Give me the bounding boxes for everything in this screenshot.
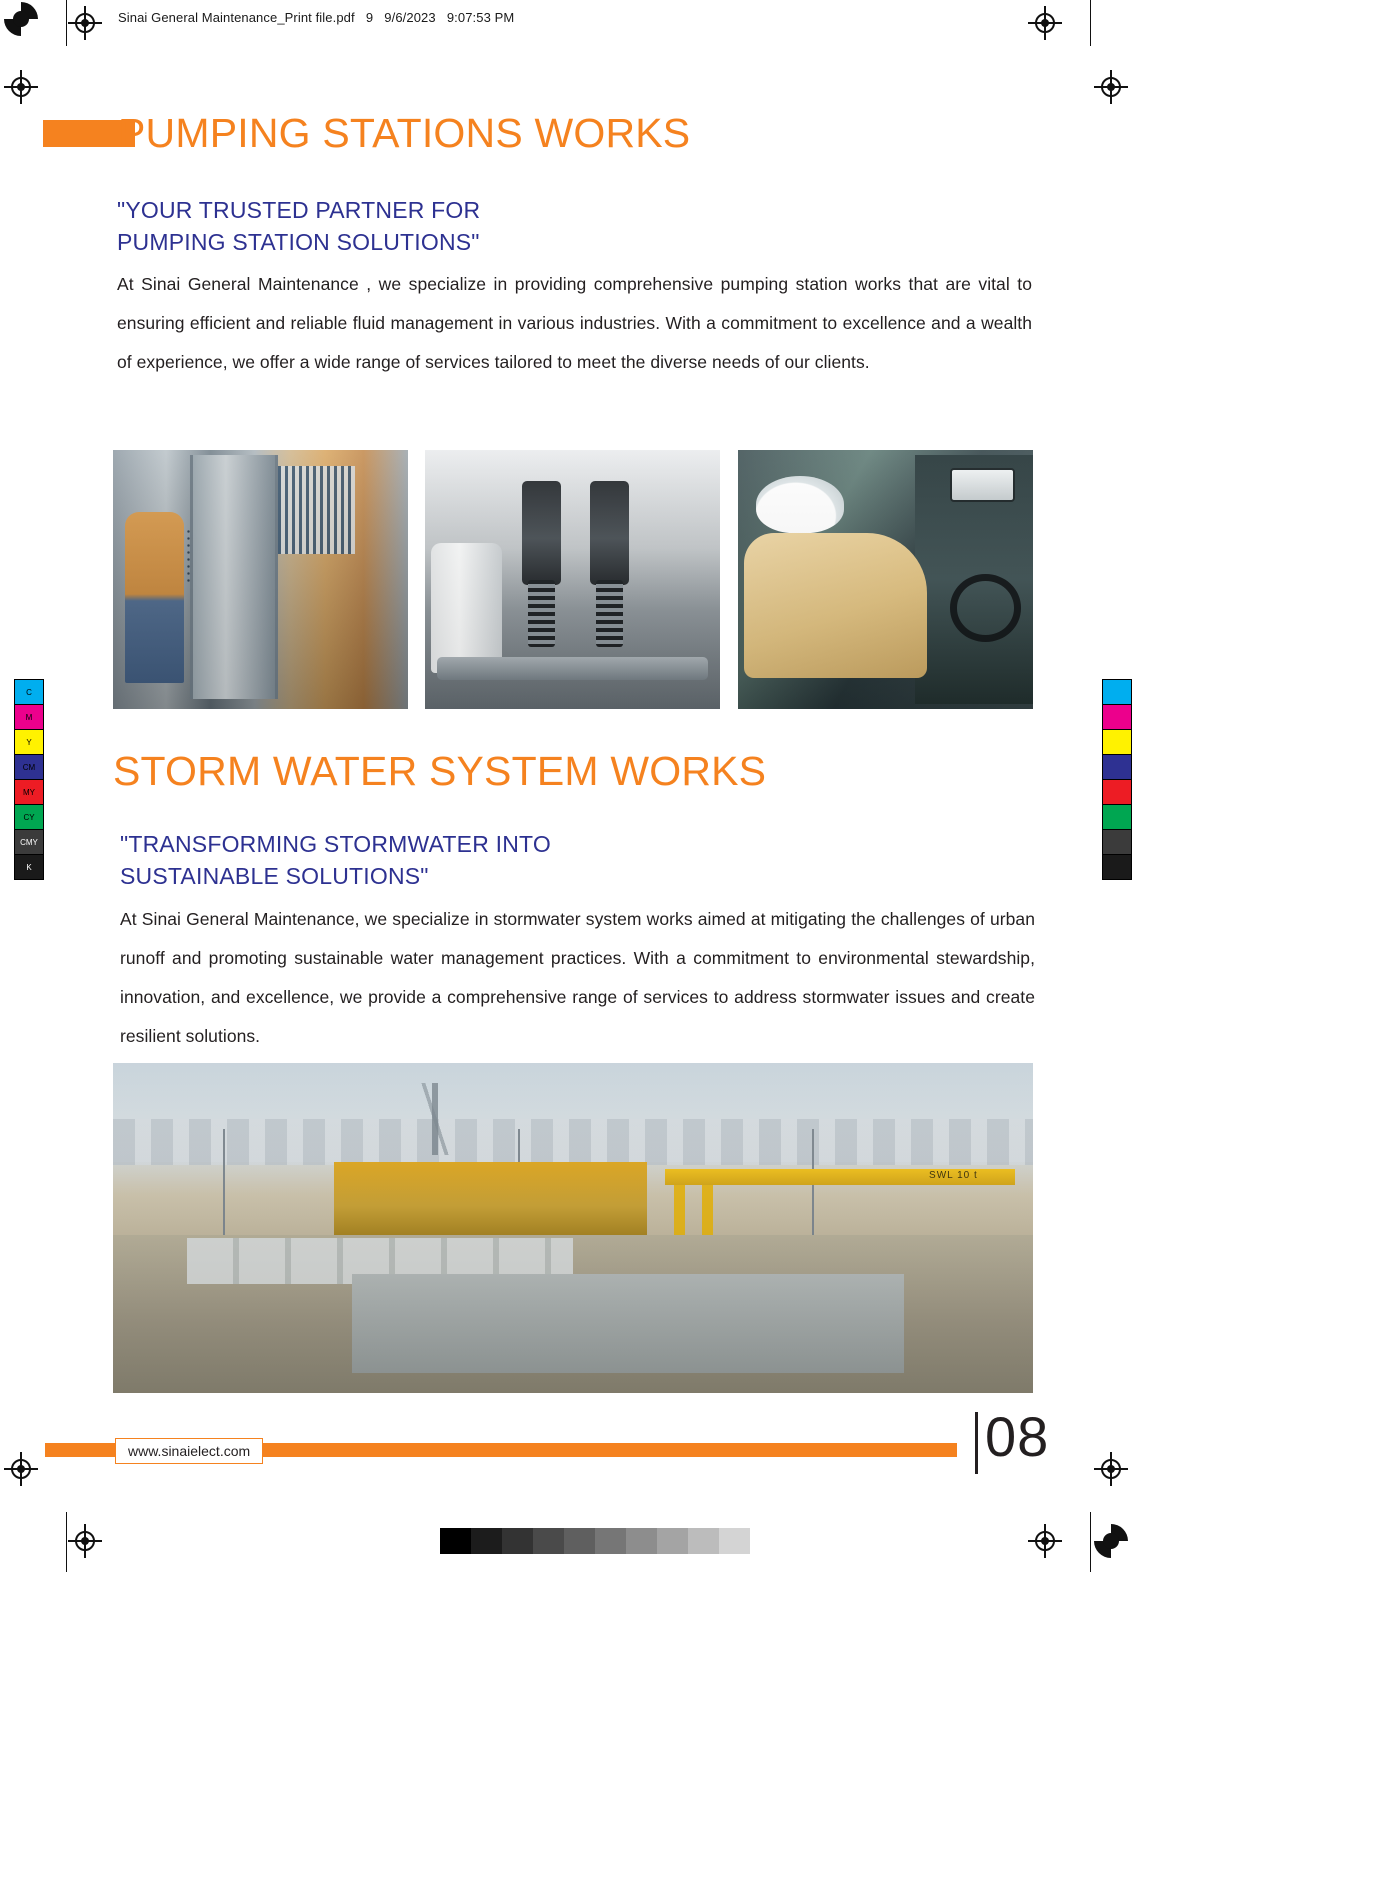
section-subhead-pumping: "YOUR TRUSTED PARTNER FOR PUMPING STATIO… <box>117 194 817 258</box>
section-title-storm-water: STORM WATER SYSTEM WORKS <box>113 748 766 795</box>
document-page: PUMPING STATIONS WORKS "YOUR TRUSTED PAR… <box>0 0 1378 1892</box>
section-subhead-stormwater: "TRANSFORMING STORMWATER INTO SUSTAINABL… <box>120 828 840 892</box>
photo-valve-operation <box>738 450 1033 709</box>
photo-booster-pumps <box>425 450 720 709</box>
footer-website-link[interactable]: www.sinaielect.com <box>115 1438 263 1464</box>
page-number: 08 <box>985 1404 1049 1469</box>
section-body-pumping: At Sinai General Maintenance , we specia… <box>117 265 1032 382</box>
page-number-rule <box>975 1412 978 1474</box>
photo-stormwater-station-overview: SWL 10 t <box>113 1063 1033 1393</box>
section-body-stormwater: At Sinai General Maintenance, we special… <box>120 900 1035 1056</box>
section-title-pumping-stations: PUMPING STATIONS WORKS <box>118 110 690 157</box>
print-proof-sheet: Sinai General Maintenance_Print file.pdf… <box>0 0 1378 1892</box>
photo-control-panel-technicians <box>113 450 408 709</box>
